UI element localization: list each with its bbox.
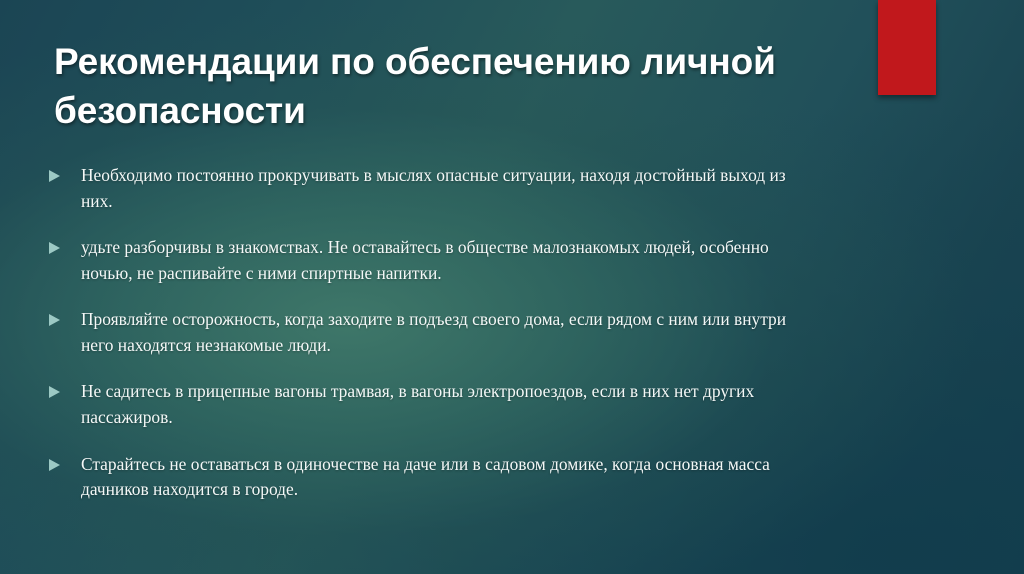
triangle-right-icon (49, 459, 60, 471)
list-item-text: Старайтесь не оставаться в одиночестве н… (81, 452, 791, 503)
slide-title: Рекомендации по обеспечению личной безоп… (54, 38, 844, 136)
list-item: Не садитесь в прицепные вагоны трамвая, … (46, 379, 791, 430)
triangle-right-icon (49, 242, 60, 254)
list-item: Старайтесь не оставаться в одиночестве н… (46, 452, 791, 503)
list-item-text: Необходимо постоянно прокручивать в мысл… (81, 163, 791, 214)
list-item: удьте разборчивы в знакомствах. Не остав… (46, 235, 791, 286)
triangle-right-icon (49, 170, 60, 182)
list-item: Проявляйте осторожность, когда заходите … (46, 307, 791, 358)
triangle-right-icon (49, 314, 60, 326)
triangle-right-icon (49, 386, 60, 398)
bullet-list: Необходимо постоянно прокручивать в мысл… (46, 163, 791, 503)
list-item-text: Не садитесь в прицепные вагоны трамвая, … (81, 379, 791, 430)
presentation-slide: Рекомендации по обеспечению личной безоп… (0, 0, 1024, 574)
list-item-text: удьте разборчивы в знакомствах. Не остав… (81, 235, 791, 286)
list-item: Необходимо постоянно прокручивать в мысл… (46, 163, 791, 214)
list-item-text: Проявляйте осторожность, когда заходите … (81, 307, 791, 358)
red-accent-rectangle (878, 0, 936, 95)
